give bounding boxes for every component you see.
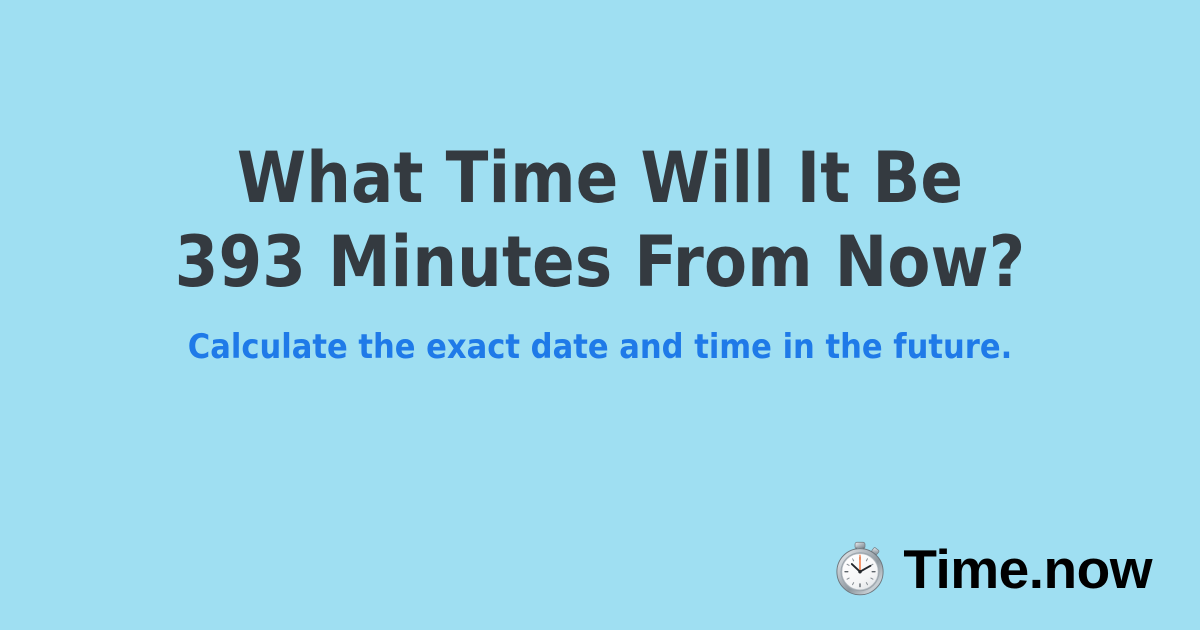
headline: What Time Will It Be 393 Minutes From No… bbox=[0, 136, 1200, 304]
headline-line-2: 393 Minutes From Now? bbox=[3, 220, 1197, 304]
brand-name: Time.now bbox=[903, 540, 1152, 598]
og-card: What Time Will It Be 393 Minutes From No… bbox=[0, 0, 1200, 630]
headline-line-1: What Time Will It Be bbox=[3, 136, 1197, 220]
brand-logo: Time.now bbox=[831, 540, 1152, 598]
subtitle: Calculate the exact date and time in the… bbox=[0, 326, 1200, 368]
page-title: What Time Will It Be 393 Minutes From No… bbox=[0, 136, 1200, 304]
stopwatch-icon bbox=[831, 540, 889, 598]
